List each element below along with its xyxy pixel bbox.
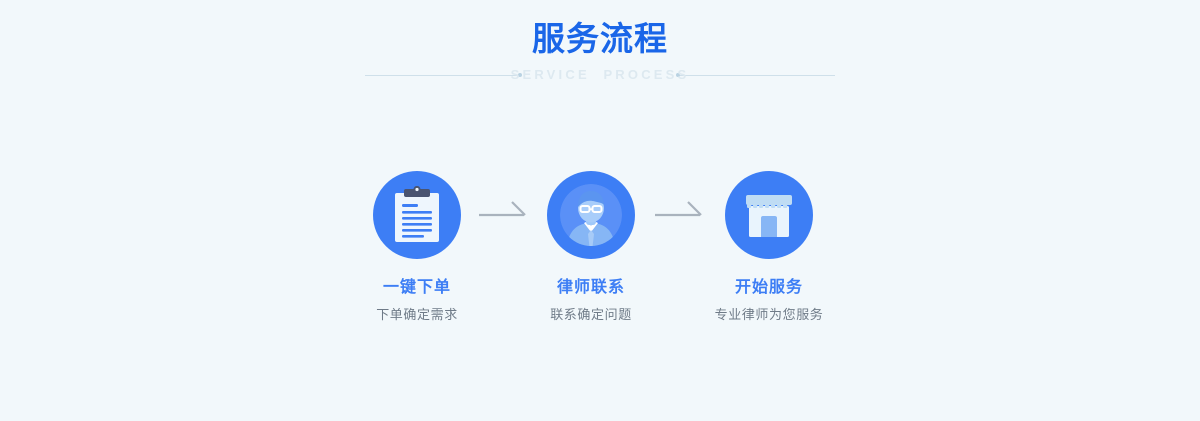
step-2-title: 律师联系 xyxy=(491,276,691,298)
step-1-icon-circle xyxy=(373,171,461,259)
step-3-icon-circle xyxy=(725,171,813,259)
process-step-3[interactable]: 开始服务 专业律师为您服务 xyxy=(669,171,869,325)
step-3-description: 专业律师为您服务 xyxy=(669,306,869,325)
step-2-description: 联系确定问题 xyxy=(491,306,691,325)
page-title: 服务流程 xyxy=(0,18,1200,60)
clipboard-icon xyxy=(390,186,444,244)
storefront-icon xyxy=(744,191,794,239)
process-step-1[interactable]: 一键下单 下单确定需求 xyxy=(317,171,517,325)
process-steps: 一键下单 下单确定需求 xyxy=(0,171,1200,331)
section-header: 服务流程 SERVICE PROCESS xyxy=(0,18,1200,88)
process-step-2[interactable]: 律师联系 联系确定问题 xyxy=(491,171,691,325)
service-process-section: 服务流程 SERVICE PROCESS xyxy=(0,0,1200,421)
step-1-title: 一键下单 xyxy=(317,276,517,298)
step-1-description: 下单确定需求 xyxy=(317,306,517,325)
step-2-icon-circle xyxy=(547,171,635,259)
lawyer-avatar-icon xyxy=(560,184,622,246)
subtitle-row: SERVICE PROCESS xyxy=(0,62,1200,88)
page-subtitle: SERVICE PROCESS xyxy=(0,62,1200,88)
step-3-title: 开始服务 xyxy=(669,276,869,298)
